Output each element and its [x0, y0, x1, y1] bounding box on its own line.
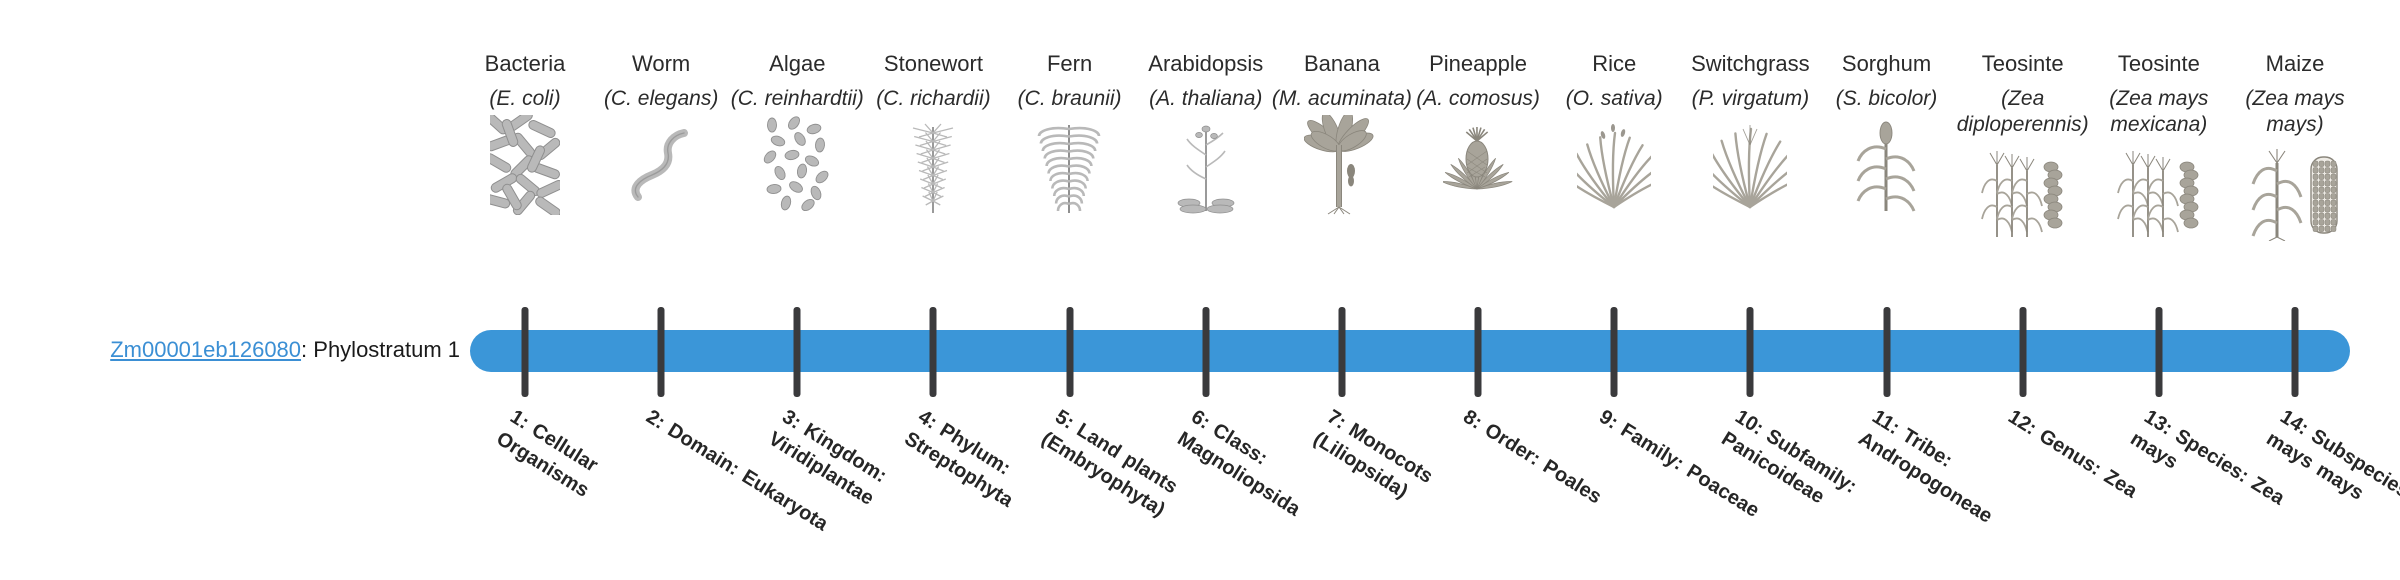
species-scientific-name: (Zea mays mays): [2220, 86, 2370, 138]
species-column: Sorghum(S. bicolor): [1812, 50, 1962, 215]
phylostratum-tick[interactable]: [1747, 307, 1754, 397]
gene-label-separator: :: [301, 337, 313, 362]
algae-cells-icon: [722, 120, 872, 215]
species-column: Arabidopsis(A. thaliana): [1131, 50, 1281, 215]
stonewort-icon: [858, 120, 1008, 215]
phylostratum-tick[interactable]: [1883, 307, 1890, 397]
phylostratum-tick[interactable]: [1338, 307, 1345, 397]
fern-frond-icon: [995, 120, 1145, 215]
species-column: Pineapple(A. comosus): [1403, 50, 1553, 215]
banana-plant-icon: [1267, 120, 1417, 215]
maize-plant-cob-icon: [2220, 146, 2370, 241]
species-common-name: Maize: [2220, 50, 2370, 78]
species-scientific-name: (Zea diploperennis): [1948, 86, 2098, 138]
species-common-name: Fern: [995, 50, 1145, 78]
species-scientific-name: (C. braunii): [995, 86, 1145, 112]
phylostratum-tick[interactable]: [2155, 307, 2162, 397]
phylostratum-track: Bacteria(E. coli)Worm(C. elegans) Algae(…: [470, 0, 2350, 580]
species-column: Bacteria(E. coli): [450, 50, 600, 215]
species-common-name: Worm: [586, 50, 736, 78]
phylostratum-tick[interactable]: [2292, 307, 2299, 397]
species-scientific-name: (C. elegans): [586, 86, 736, 112]
species-scientific-name: (A. thaliana): [1131, 86, 1281, 112]
species-column: Banana(M. acuminata): [1267, 50, 1417, 215]
teosinte-plant-ear-icon: [2084, 146, 2234, 241]
phylostratum-tick[interactable]: [930, 307, 937, 397]
species-common-name: Stonewort: [858, 50, 1008, 78]
species-scientific-name: (Zea mays mexicana): [2084, 86, 2234, 138]
phylostratum-tick[interactable]: [1475, 307, 1482, 397]
species-column: Worm(C. elegans): [586, 50, 736, 215]
gene-id-link[interactable]: Zm00001eb126080: [110, 337, 301, 362]
species-column: Algae(C. reinhardtii): [722, 50, 872, 215]
phylostratum-tick[interactable]: [794, 307, 801, 397]
species-common-name: Arabidopsis: [1131, 50, 1281, 78]
phylostratum-tick[interactable]: [1202, 307, 1209, 397]
species-scientific-name: (S. bicolor): [1812, 86, 1962, 112]
species-scientific-name: (P. virgatum): [1675, 86, 1825, 112]
phylostratum-tick[interactable]: [2019, 307, 2026, 397]
sorghum-plant-icon: [1812, 120, 1962, 215]
species-common-name: Switchgrass: [1675, 50, 1825, 78]
phylostratigraphy-chart: Zm00001eb126080: Phylostratum 1 Bacteria…: [0, 0, 2400, 580]
bacteria-rods-icon: [450, 120, 600, 215]
gene-phylostratum-label: Zm00001eb126080: Phylostratum 1: [40, 336, 460, 364]
phylostratum-tick[interactable]: [658, 307, 665, 397]
phylostratum-tick[interactable]: [1611, 307, 1618, 397]
species-common-name: Pineapple: [1403, 50, 1553, 78]
species-common-name: Banana: [1267, 50, 1417, 78]
species-scientific-name: (C. reinhardtii): [722, 86, 872, 112]
phylostratum-bar[interactable]: [470, 330, 2350, 372]
species-column: Maize(Zea mays mays): [2220, 50, 2370, 241]
species-column: Teosinte(Zea diploperennis): [1948, 50, 2098, 241]
species-scientific-name: (M. acuminata): [1267, 86, 1417, 112]
species-column: Rice(O. sativa): [1539, 50, 1689, 215]
species-common-name: Bacteria: [450, 50, 600, 78]
species-column: Stonewort(C. richardii): [858, 50, 1008, 215]
species-scientific-name: (O. sativa): [1539, 86, 1689, 112]
switchgrass-icon: [1675, 120, 1825, 215]
species-common-name: Rice: [1539, 50, 1689, 78]
species-column: Switchgrass(P. virgatum): [1675, 50, 1825, 215]
species-common-name: Sorghum: [1812, 50, 1962, 78]
species-column: Fern(C. braunii): [995, 50, 1145, 215]
species-column: Teosinte(Zea mays mexicana): [2084, 50, 2234, 241]
species-scientific-name: (A. comosus): [1403, 86, 1553, 112]
rice-plant-icon: [1539, 120, 1689, 215]
arabidopsis-icon: [1131, 120, 1281, 215]
nematode-worm-icon: [586, 120, 736, 215]
species-common-name: Teosinte: [2084, 50, 2234, 78]
pineapple-plant-icon: [1403, 120, 1553, 215]
phylostratum-value: Phylostratum 1: [313, 337, 460, 362]
species-scientific-name: (E. coli): [450, 86, 600, 112]
teosinte-plant-ear-icon: [1948, 146, 2098, 241]
phylostratum-tick[interactable]: [1066, 307, 1073, 397]
phylostratum-tick[interactable]: [522, 307, 529, 397]
species-scientific-name: (C. richardii): [858, 86, 1008, 112]
species-common-name: Algae: [722, 50, 872, 78]
species-common-name: Teosinte: [1948, 50, 2098, 78]
